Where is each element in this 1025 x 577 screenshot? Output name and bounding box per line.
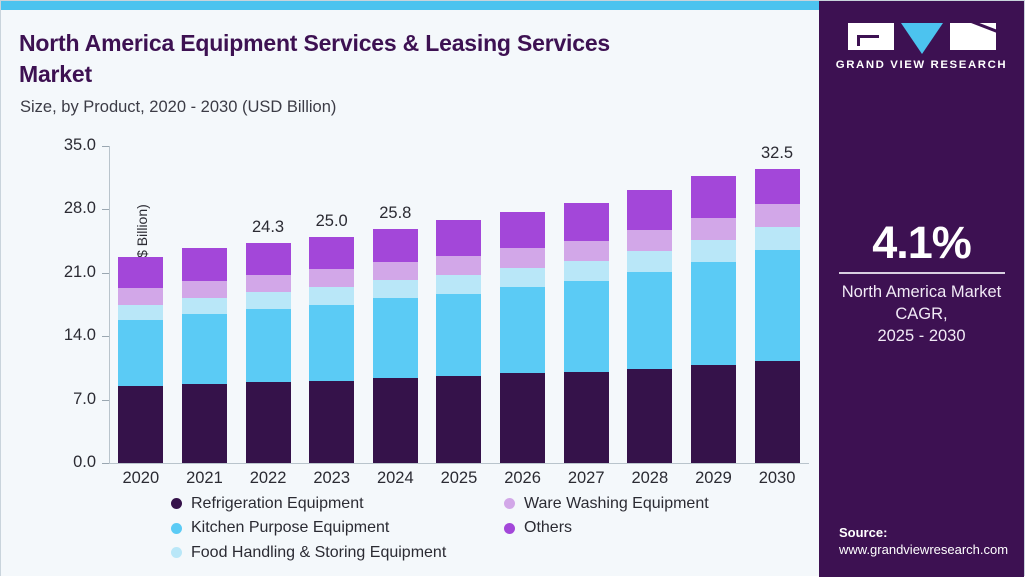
cagr-caption-line: 2025 - 2030 [819,326,1024,348]
x-axis-tick-label: 2030 [759,469,796,488]
source-block: Source: www.grandviewresearch.com [839,525,1019,557]
cagr-callout: 4.1% North America Market CAGR,2025 - 20… [819,219,1024,348]
x-axis-tick-label: 2021 [186,469,223,488]
bar-segment[interactable] [691,262,736,365]
chart-infographic: North America Equipment Services & Leasi… [0,0,1025,576]
y-axis-tick-label: 35.0 [64,136,96,155]
bar-segment[interactable] [691,218,736,240]
y-axis-tick-label: 7.0 [73,390,96,409]
bar-segment[interactable] [373,378,418,463]
bar-segment[interactable] [246,309,291,382]
bar-series-container: 2020202124.3202225.0202325.8202420252026… [109,146,809,463]
bar-segment[interactable] [309,305,354,381]
page-title: North America Equipment Services & Leasi… [19,28,659,91]
legend-item[interactable]: Others [504,517,804,540]
cagr-value: 4.1% [819,219,1024,266]
legend-column-right: Ware Washing EquipmentOthers [504,492,804,541]
bar-segment[interactable] [246,275,291,292]
bar-stack[interactable] [627,190,672,463]
bar-segment[interactable] [500,248,545,268]
logo-g-shape [848,23,894,50]
x-axis-tick-label: 2027 [568,469,605,488]
bar-segment[interactable] [373,298,418,378]
bar-segment[interactable] [246,382,291,463]
page-subtitle: Size, by Product, 2020 - 2030 (USD Billi… [20,98,720,117]
bar-segment[interactable] [436,275,481,294]
legend-item[interactable]: Kitchen Purpose Equipment [171,517,501,540]
logo: GRAND VIEW RESEARCH [819,23,1024,71]
bar-segment[interactable] [436,220,481,255]
bar-stack[interactable] [564,203,609,463]
bar-segment[interactable] [118,257,163,288]
cagr-divider [839,272,1005,274]
bar-segment[interactable] [118,386,163,463]
x-axis-tick-label: 2022 [250,469,287,488]
y-axis-tick-mark [102,336,109,337]
bar-segment[interactable] [755,250,800,360]
bar-segment[interactable] [182,384,227,463]
bar-group[interactable]: 25.82024 [364,146,428,463]
y-axis-tick-mark [102,273,109,274]
top-accent-bar [1,1,821,10]
bar-segment[interactable] [309,269,354,287]
legend-swatch-icon [504,498,515,509]
logo-v-triangle-icon [901,23,943,54]
bar-stack[interactable] [500,212,545,463]
x-axis-tick-label: 2026 [504,469,541,488]
legend-swatch-icon [171,547,182,558]
legend-label: Others [524,519,572,537]
legend-column-left: Refrigeration EquipmentKitchen Purpose E… [171,492,501,566]
chart-legend: Refrigeration EquipmentKitchen Purpose E… [171,492,811,574]
bar-group[interactable]: 25.02023 [300,146,364,463]
bar-segment[interactable] [182,298,227,314]
y-axis-tick-mark [102,209,109,210]
bar-value-label: 25.0 [316,212,348,231]
bar-group[interactable]: 24.32022 [236,146,300,463]
chart-panel: North America Equipment Services & Leasi… [1,10,821,576]
bar-segment[interactable] [373,280,418,298]
bar-stack[interactable] [436,220,481,463]
cagr-caption-line: North America Market CAGR, [819,282,1024,326]
bar-segment[interactable] [691,240,736,262]
bar-stack[interactable] [373,229,418,463]
x-axis-tick-label: 2024 [377,469,414,488]
legend-item[interactable]: Food Handling & Storing Equipment [171,541,501,564]
bar-segment[interactable] [373,262,418,280]
bar-segment[interactable] [627,230,672,251]
bar-group[interactable]: 2026 [491,146,555,463]
legend-swatch-icon [504,523,515,534]
bar-segment[interactable] [564,281,609,372]
bar-segment[interactable] [309,287,354,304]
legend-swatch-icon [171,523,182,534]
brand-sidebar: GRAND VIEW RESEARCH 4.1% North America M… [819,1,1024,577]
bar-segment[interactable] [627,369,672,463]
bar-segment[interactable] [755,361,800,463]
bar-segment[interactable] [500,212,545,248]
bar-group[interactable]: 2025 [427,146,491,463]
legend-swatch-icon [171,498,182,509]
bar-segment[interactable] [627,251,672,272]
x-axis-tick-label: 2029 [695,469,732,488]
bar-segment[interactable] [309,381,354,463]
y-axis-tick-label: 21.0 [64,263,96,282]
legend-item[interactable]: Refrigeration Equipment [171,492,501,515]
bar-stack[interactable] [118,257,163,463]
source-label: Source: [839,525,1019,540]
bar-segment[interactable] [500,373,545,463]
bar-segment[interactable] [755,227,800,251]
bar-segment[interactable] [118,305,163,320]
plot-area: Market Size (US$ Billion) 0.07.014.021.0… [109,146,809,463]
y-axis-tick: 0.0 [109,463,809,464]
y-axis-tick-mark [102,146,109,147]
bar-segment[interactable] [564,372,609,463]
bar-segment[interactable] [627,190,672,230]
source-url[interactable]: www.grandviewresearch.com [839,542,1019,557]
bar-segment[interactable] [118,288,163,304]
logo-wordmark: GRAND VIEW RESEARCH [836,59,1008,71]
bar-stack[interactable] [309,237,354,463]
bar-segment[interactable] [246,243,291,275]
x-axis-tick-label: 2020 [122,469,159,488]
legend-label: Kitchen Purpose Equipment [191,519,389,537]
y-axis-tick-label: 14.0 [64,326,96,345]
y-axis-tick-mark [102,463,109,464]
bar-segment[interactable] [500,268,545,287]
bar-group[interactable]: 2021 [173,146,237,463]
bar-stack[interactable] [246,243,291,463]
bar-group[interactable]: 32.52030 [745,146,809,463]
bar-segment[interactable] [436,376,481,463]
y-axis-tick-label: 28.0 [64,199,96,218]
bar-stack[interactable] [182,248,227,463]
x-axis-tick-label: 2028 [631,469,668,488]
bar-group[interactable]: 2028 [618,146,682,463]
legend-label: Ware Washing Equipment [524,495,709,513]
bar-segment[interactable] [182,248,227,281]
bar-segment[interactable] [309,237,354,270]
bar-segment[interactable] [691,365,736,463]
bar-value-label: 32.5 [761,144,793,163]
bar-value-label: 25.8 [379,204,411,223]
bar-segment[interactable] [182,314,227,384]
bar-stack[interactable] [691,176,736,463]
legend-item[interactable]: Ware Washing Equipment [504,492,804,515]
bar-segment[interactable] [755,169,800,204]
bar-stack[interactable] [755,169,800,463]
gvr-logo-icon [848,23,996,50]
bar-group[interactable]: 2029 [682,146,746,463]
y-axis-tick-label: 0.0 [73,453,96,472]
cagr-caption: North America Market CAGR,2025 - 2030 [819,282,1024,348]
x-axis-tick-label: 2025 [441,469,478,488]
bar-segment[interactable] [373,229,418,262]
x-axis-tick-label: 2023 [313,469,350,488]
bar-segment[interactable] [691,176,736,219]
bar-group[interactable]: 2027 [554,146,618,463]
bar-segment[interactable] [564,241,609,261]
bar-segment[interactable] [500,287,545,373]
bar-segment[interactable] [564,261,609,281]
bar-segment[interactable] [246,292,291,309]
bar-segment[interactable] [436,294,481,376]
legend-label: Food Handling & Storing Equipment [191,544,446,562]
bar-group[interactable]: 2020 [109,146,173,463]
legend-label: Refrigeration Equipment [191,495,364,513]
bar-segment[interactable] [564,203,609,241]
bar-segment[interactable] [755,204,800,227]
bar-segment[interactable] [182,281,227,298]
logo-r-shape [950,23,996,50]
bar-segment[interactable] [627,272,672,369]
bar-segment[interactable] [436,256,481,275]
bar-segment[interactable] [118,320,163,386]
bar-value-label: 24.3 [252,218,284,237]
y-axis-tick-mark [102,400,109,401]
